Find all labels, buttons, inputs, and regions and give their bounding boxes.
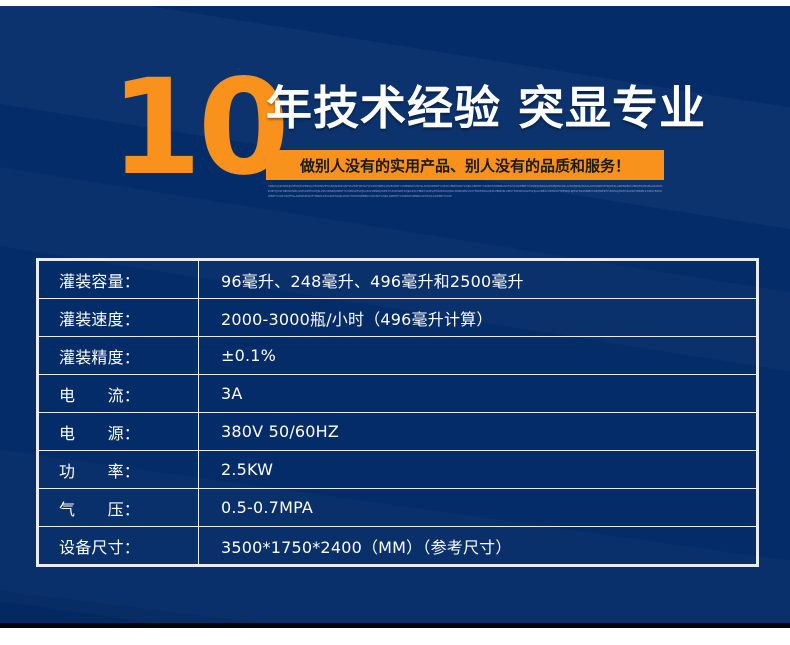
- spec-label: 灌装容量：: [39, 261, 199, 299]
- spec-label: 电 源：: [39, 413, 199, 451]
- table-row: 电 流： 3A: [39, 375, 757, 413]
- spec-value: 2.5KW: [199, 451, 757, 489]
- decorative-micro-text: CNKDCJSKCNMDJSHFKDJFAPSNDJAHFKDNSHFKOPZJ…: [268, 184, 664, 202]
- spec-label: 气 压：: [39, 489, 199, 527]
- spec-table-body: 灌装容量： 96毫升、248毫升、496毫升和2500毫升 灌装速度： 2000…: [39, 261, 757, 565]
- spec-value: 2000-3000瓶/小时（496毫升计算）: [199, 299, 757, 337]
- spec-label: 灌装精度：: [39, 337, 199, 375]
- hero-headline: 年技术经验 突显专业: [266, 83, 706, 134]
- table-row: 灌装容量： 96毫升、248毫升、496毫升和2500毫升: [39, 261, 757, 299]
- spec-value: 3500*1750*2400（MM）（参考尺寸）: [199, 527, 757, 565]
- spec-value: 3A: [199, 375, 757, 413]
- spec-label: 灌装速度：: [39, 299, 199, 337]
- table-row: 气 压： 0.5-0.7MPA: [39, 489, 757, 527]
- table-row: 功 率： 2.5KW: [39, 451, 757, 489]
- table-row: 设备尺寸： 3500*1750*2400（MM）（参考尺寸）: [39, 527, 757, 565]
- table-row: 灌装精度： ±0.1%: [39, 337, 757, 375]
- spec-value: 96毫升、248毫升、496毫升和2500毫升: [199, 261, 757, 299]
- hero-subtitle-bar: 做别人没有的实用产品、别人没有的品质和服务！: [266, 150, 664, 180]
- table-row: 电 源： 380V 50/60HZ: [39, 413, 757, 451]
- specification-table: 灌装容量： 96毫升、248毫升、496毫升和2500毫升 灌装速度： 2000…: [36, 258, 759, 567]
- spec-label: 电 流：: [39, 375, 199, 413]
- spec-value: ±0.1%: [199, 337, 757, 375]
- hero-subtitle-text: 做别人没有的实用产品、别人没有的品质和服务！: [300, 155, 630, 176]
- product-spec-banner: 10 年技术经验 突显专业 做别人没有的实用产品、别人没有的品质和服务！ CNK…: [0, 0, 790, 645]
- hero-years-number: 10: [110, 62, 286, 194]
- spec-table-grid: 灌装容量： 96毫升、248毫升、496毫升和2500毫升 灌装速度： 2000…: [38, 260, 757, 565]
- spec-value: 380V 50/60HZ: [199, 413, 757, 451]
- spec-label: 功 率：: [39, 451, 199, 489]
- table-row: 灌装速度： 2000-3000瓶/小时（496毫升计算）: [39, 299, 757, 337]
- spec-label: 设备尺寸：: [39, 527, 199, 565]
- hero-section: 10 年技术经验 突显专业 做别人没有的实用产品、别人没有的品质和服务！ CNK…: [0, 0, 790, 240]
- spec-value: 0.5-0.7MPA: [199, 489, 757, 527]
- bottom-white-divider: [0, 628, 790, 645]
